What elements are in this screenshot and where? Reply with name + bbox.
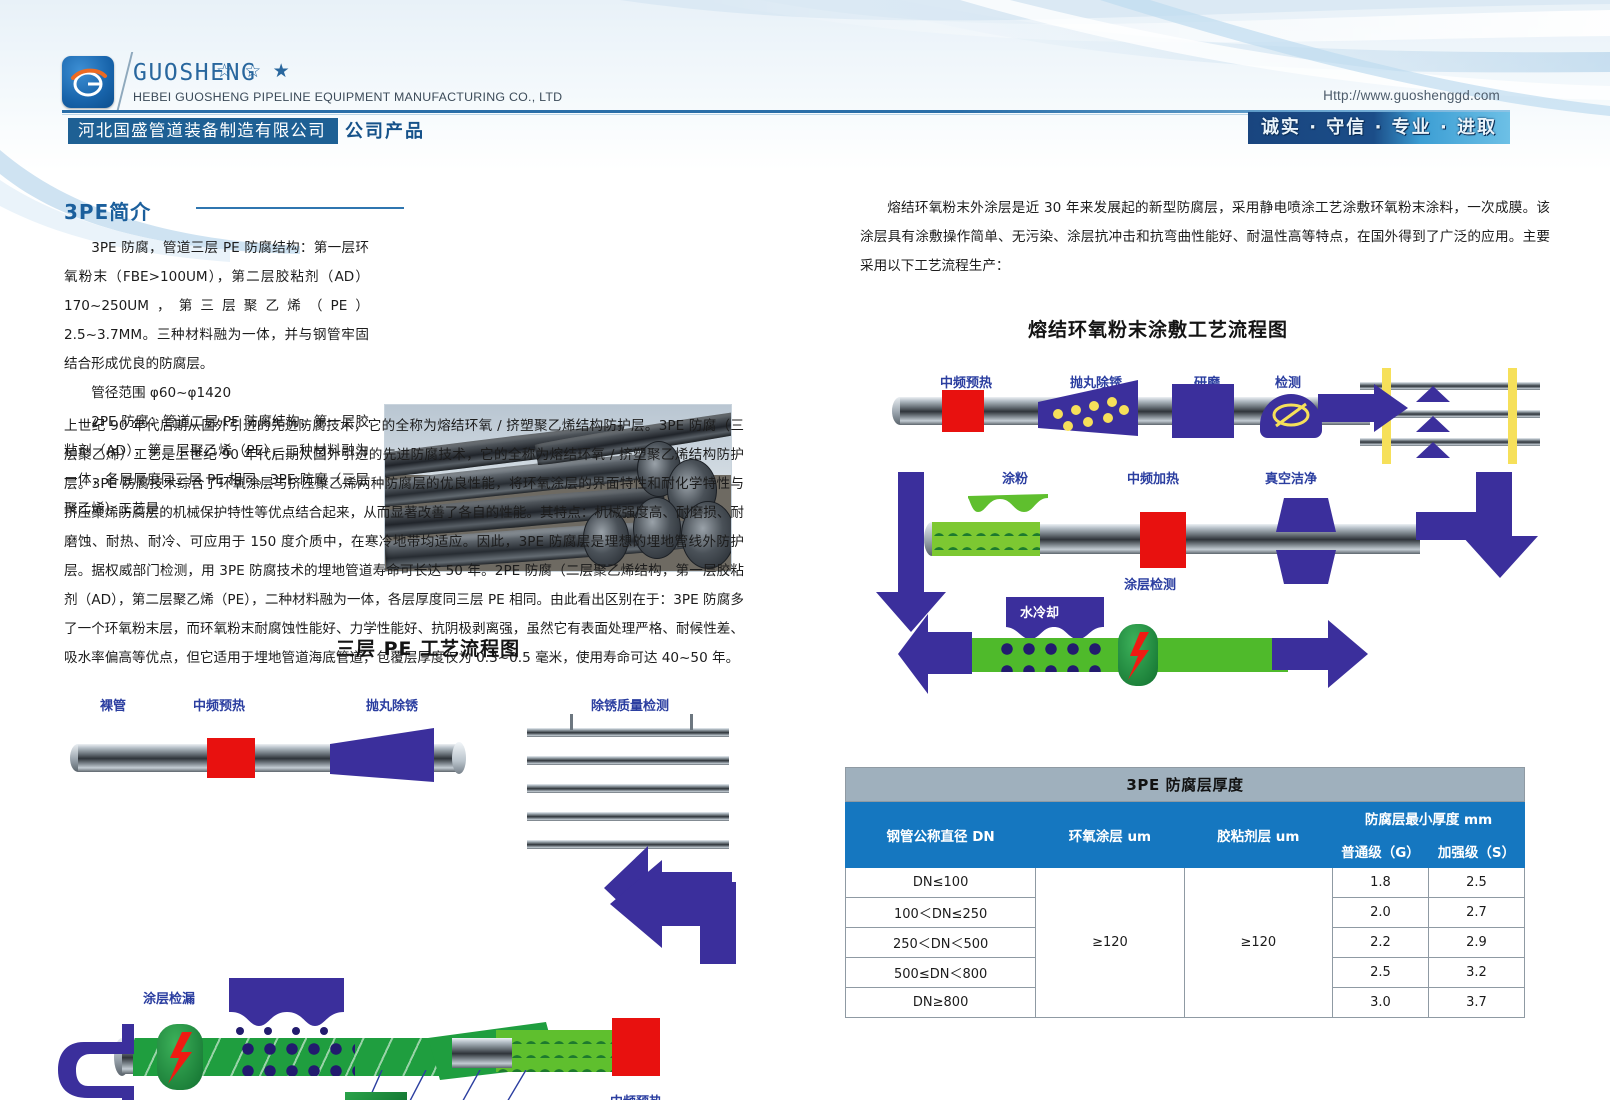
- pe-layer-swatch: [345, 1092, 407, 1100]
- website-url[interactable]: Http://www.guoshenggd.com: [1323, 88, 1500, 103]
- cell-grade-s: 3.7: [1429, 988, 1525, 1018]
- label-coating-leak-check: 涂层检漏: [143, 988, 195, 1007]
- rack-pipe: [527, 812, 729, 821]
- water-cooling-hood: [229, 978, 344, 1012]
- label-bare-pipe: 裸管: [100, 695, 126, 714]
- fbe-paragraph-text: 熔结环氧粉末外涂层是近 30 年来发展起的新型防腐层，采用静电喷涂工艺涂敷环氧粉…: [860, 194, 1550, 281]
- page-header: GUOSHENG ☆ ☆ ★ HEBEI GUOSHENG PIPELINE E…: [0, 0, 1610, 170]
- cell-grade-g: 3.0: [1333, 988, 1429, 1018]
- vacuum-clean-unit: [1276, 498, 1336, 584]
- cell-dn: 250＜DN＜500: [846, 928, 1036, 958]
- inspect-spark-bolt-icon: [1128, 632, 1150, 680]
- flow-arrow-exit-left: [898, 614, 972, 694]
- section-title-3pe: 3PE简介: [64, 196, 151, 225]
- flow-arrow-return-connector: [596, 848, 740, 968]
- induction-preheat-coil: [942, 390, 984, 432]
- water-droplets: [232, 1024, 344, 1038]
- cell-dn: DN≥800: [846, 988, 1036, 1018]
- shot-blast-nozzle: [330, 728, 442, 782]
- induction-preheat-coil-2: [612, 1018, 660, 1076]
- label-shot-blast: 抛丸除锈: [366, 695, 418, 714]
- coating-thickness-table: 3PE 防腐层厚度 钢管公称直径 DN 环氧涂层 um 胶粘剂层 um 防腐层最…: [845, 767, 1525, 1018]
- brand-subtitle-en: HEBEI GUOSHENG PIPELINE EQUIPMENT MANUFA…: [133, 90, 562, 104]
- cell-dn: 100＜DN≤250: [846, 898, 1036, 928]
- right-column: 熔结环氧粉末外涂层是近 30 年来发展起的新型防腐层，采用静电喷涂工艺涂敷环氧粉…: [820, 172, 1610, 1100]
- rack-flow-arrows: [1416, 386, 1450, 458]
- induction-heating-coil: [1140, 512, 1186, 568]
- fbe-description-paragraph: 熔结环氧粉末外涂层是近 30 年来发展起的新型防腐层，采用静电喷涂工艺涂敷环氧粉…: [860, 194, 1550, 281]
- flow-arrow-right-1: [1318, 384, 1408, 432]
- label-inspect: 检测: [1275, 372, 1301, 391]
- label-powder-coat: 涂粉: [1002, 468, 1028, 487]
- label-vacuum-clean: 真空洁净: [1265, 468, 1317, 487]
- cell-epoxy: ≥120: [1036, 868, 1184, 1018]
- label-preheat: 中频预热: [940, 372, 992, 391]
- cell-grade-s: 2.9: [1429, 928, 1525, 958]
- cell-grade-g: 1.8: [1333, 868, 1429, 898]
- cell-grade-g: 2.2: [1333, 928, 1429, 958]
- logo-divider-slash: [117, 52, 133, 110]
- powder-coat-hood-icon: [968, 494, 1048, 512]
- cell-dn: 500≤DN＜800: [846, 958, 1036, 988]
- cell-grade-s: 2.7: [1429, 898, 1525, 928]
- rack-pipe: [527, 728, 729, 737]
- cell-adhesive: ≥120: [1184, 868, 1332, 1018]
- page-title: 公司产品: [345, 117, 425, 143]
- flow-arrow-down-left-1: [872, 472, 946, 632]
- table-title: 3PE 防腐层厚度: [846, 768, 1525, 802]
- induction-preheat-coil: [207, 738, 255, 778]
- left-diagram-title: 三层 PE 工艺流程图: [336, 634, 520, 661]
- rack-post: [690, 714, 693, 730]
- rack-pipe: [527, 756, 729, 765]
- cell-grade-s: 2.5: [1429, 868, 1525, 898]
- cell-grade-g: 2.0: [1333, 898, 1429, 928]
- rack-post-yellow: [1508, 368, 1517, 464]
- table-header-grade-s: 加强级（S）: [1429, 835, 1525, 868]
- pipe-end-cap: [452, 742, 466, 774]
- label-induction-heat: 中频加热: [1127, 468, 1179, 487]
- label-coating-inspect: 涂层检测: [1124, 574, 1176, 593]
- intro-paragraph-1: 3PE 防腐，管道三层 PE 防腐结构：第一层环氧粉末（FBE>100UM），第…: [64, 234, 369, 379]
- rack-pipe: [527, 784, 729, 793]
- label-preheat: 中频预热: [193, 695, 245, 714]
- left-column: 3PE简介 3PE 防腐，管道三层 PE 防腐结构：第一层环氧粉末（FBE>10…: [0, 172, 800, 1100]
- flow-arrow-exit-down: [58, 1024, 178, 1100]
- slogan-text: 诚实 · 守信 · 专业 · 进取: [1248, 112, 1510, 144]
- powder-sprayed-section: [496, 1030, 620, 1072]
- table-header-dn: 钢管公称直径 DN: [846, 802, 1036, 868]
- inspection-eye-icon: [1272, 400, 1310, 430]
- flow-arrow-right-3: [1272, 612, 1368, 696]
- pipe-midsection: [452, 1038, 512, 1068]
- intro-paragraph-2: 管径范围 φ60~φ1420: [64, 379, 369, 408]
- shot-blast-unit: [1038, 380, 1146, 436]
- brand-stars: ☆ ☆ ★: [216, 60, 293, 83]
- guosheng-logo-icon: [68, 62, 108, 102]
- label-rust-quality-check: 除锈质量检测: [591, 695, 669, 714]
- rack-post: [570, 714, 573, 730]
- label-water-cooling-right: 水冷却: [1020, 602, 1059, 621]
- company-name-cn: 河北国盛管道装备制造有限公司: [68, 118, 338, 144]
- section-title-rule: [196, 207, 404, 209]
- slogan-banner: 诚实 · 守信 · 专业 · 进取: [1248, 112, 1510, 144]
- cell-grade-s: 3.2: [1429, 958, 1525, 988]
- powder-coated-section: [932, 522, 1040, 556]
- company-logo: [62, 56, 114, 108]
- label-preheat-2: 中频预热: [610, 1091, 662, 1100]
- table-body: DN≤100≥120≥1201.82.5100＜DN≤2502.02.7250＜…: [846, 868, 1525, 1018]
- cell-grade-g: 2.5: [1333, 958, 1429, 988]
- cell-dn: DN≤100: [846, 868, 1036, 898]
- grinding-unit: [1172, 384, 1234, 438]
- table-row: DN≤100≥120≥1201.82.5: [846, 868, 1525, 898]
- flow-arrow-right-down-2: [1416, 472, 1538, 578]
- table-header-grade-g: 普通级（G）: [1333, 835, 1429, 868]
- cooling-water-dots-right: [996, 638, 1108, 672]
- table-header-epoxy: 环氧涂层 um: [1036, 802, 1184, 868]
- table-header-adhesive: 胶粘剂层 um: [1184, 802, 1332, 868]
- water-cooling-nozzle-row-right: [1006, 625, 1104, 639]
- table-header-group-min-thickness: 防腐层最小厚度 mm: [1333, 802, 1525, 835]
- right-diagram-title: 熔结环氧粉末涂敷工艺流程图: [1028, 315, 1288, 342]
- page-canvas: GUOSHENG ☆ ☆ ★ HEBEI GUOSHENG PIPELINE E…: [0, 0, 1610, 1100]
